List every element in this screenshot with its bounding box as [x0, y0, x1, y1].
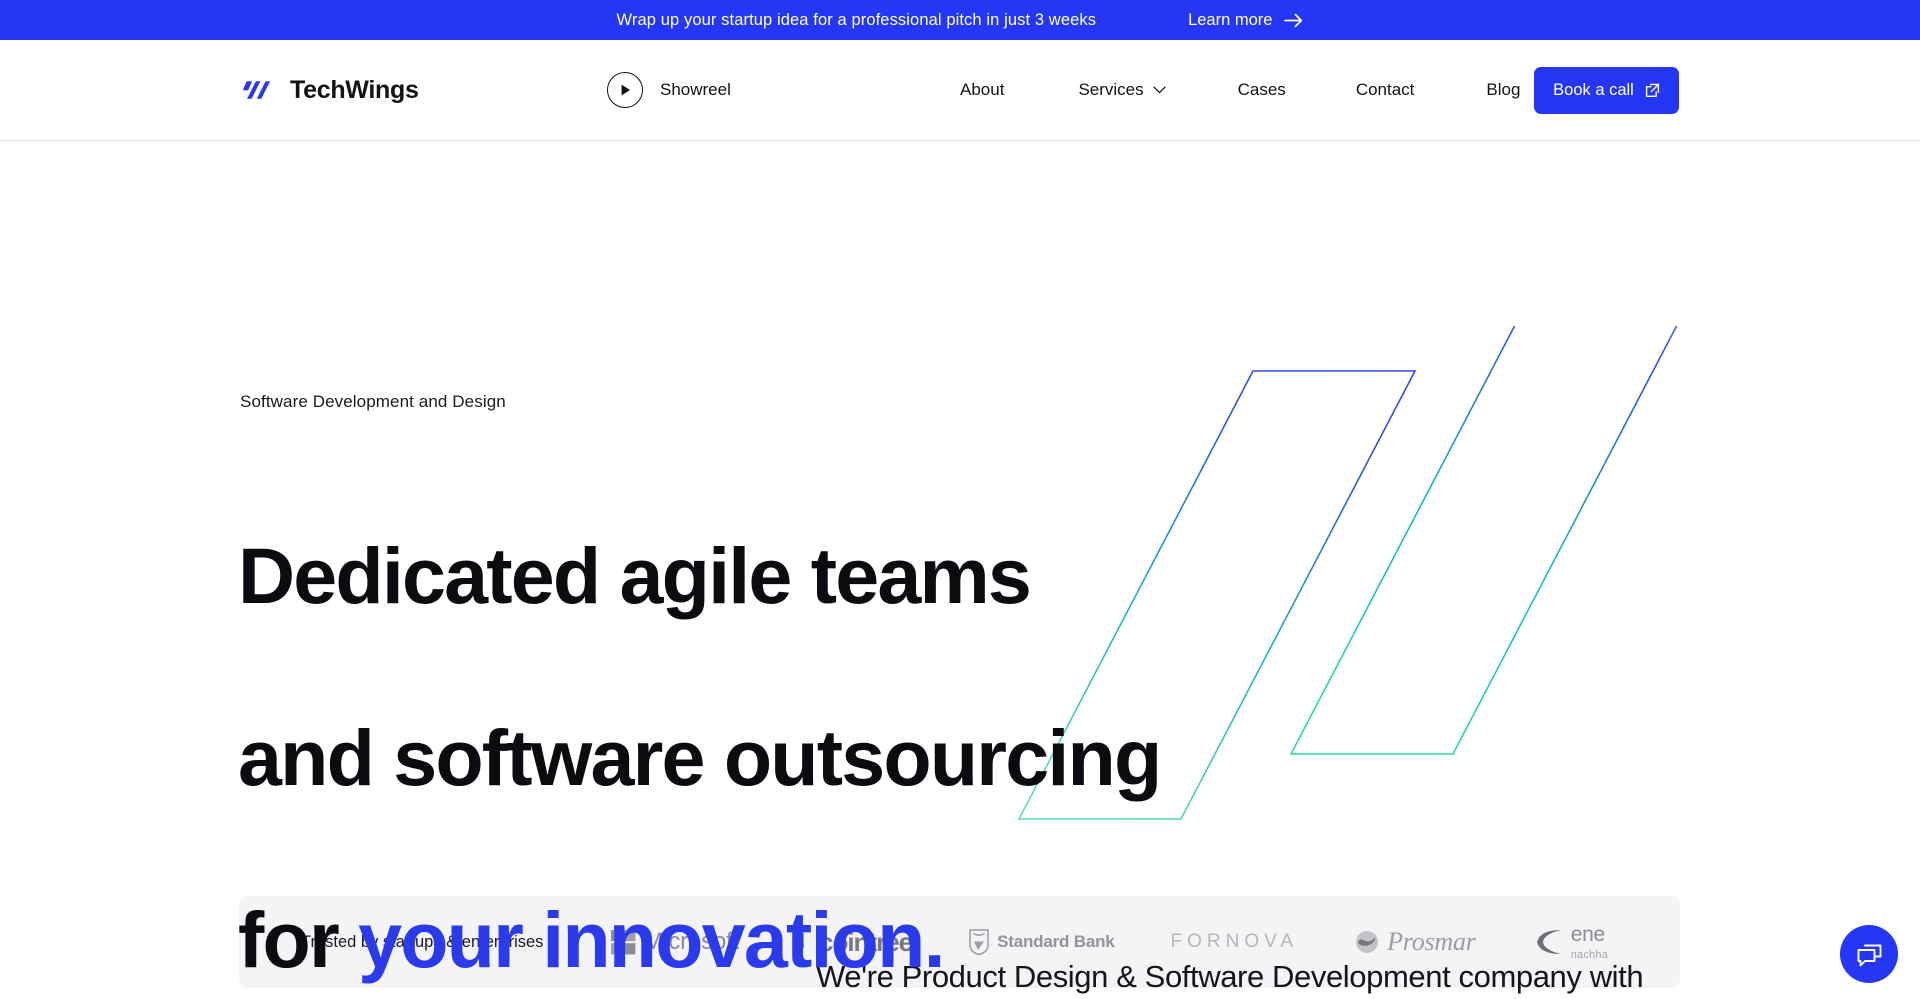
- partner-prosmar[interactable]: Prosmar: [1354, 927, 1476, 957]
- site-header: TechWings Showreel About Services Cases …: [0, 40, 1920, 141]
- hero-title-line-2: and software outsourcing: [238, 713, 1160, 802]
- nav-label-contact: Contact: [1356, 80, 1415, 100]
- partner-name-prosmar: Prosmar: [1387, 927, 1476, 957]
- techwings-mark-icon: [240, 78, 277, 102]
- nav-label-services: Services: [1078, 80, 1143, 100]
- play-icon: [607, 72, 643, 108]
- hero-title-line-1: Dedicated agile teams: [238, 531, 1030, 620]
- nav-item-services[interactable]: Services: [1078, 80, 1165, 100]
- prosmar-icon: [1354, 929, 1380, 955]
- nav-item-contact[interactable]: Contact: [1356, 80, 1415, 100]
- book-a-call-label: Book a call: [1553, 81, 1634, 100]
- book-a-call-button[interactable]: Book a call: [1534, 67, 1679, 114]
- hero-eyebrow: Software Development and Design: [240, 392, 506, 412]
- chat-widget-button[interactable]: [1840, 925, 1898, 983]
- announcement-text: Wrap up your startup idea for a professi…: [617, 11, 1097, 30]
- hero-title-accent: your innovation.: [358, 895, 944, 984]
- nav-label-about: About: [960, 80, 1004, 100]
- learn-more-link[interactable]: Learn more: [1188, 11, 1303, 30]
- nav-item-blog[interactable]: Blog: [1486, 80, 1520, 100]
- brand-logo[interactable]: TechWings: [240, 76, 419, 105]
- announcement-banner: Wrap up your startup idea for a professi…: [0, 0, 1920, 40]
- main-navigation: About Services Cases Contact Blog: [960, 80, 1520, 100]
- showreel-button[interactable]: Showreel: [607, 72, 731, 108]
- partner-fornova[interactable]: FORNOVA: [1171, 931, 1299, 953]
- partner-name-ene-top: ene: [1571, 924, 1608, 945]
- ene-icon: [1532, 926, 1564, 958]
- brand-name: TechWings: [290, 76, 419, 105]
- nav-label-blog: Blog: [1486, 80, 1520, 100]
- hero-section: Software Development and Design Dedicate…: [0, 141, 1920, 781]
- learn-more-label: Learn more: [1188, 11, 1272, 30]
- chat-bubble-icon: [1855, 940, 1884, 969]
- nav-item-about[interactable]: About: [960, 80, 1004, 100]
- partner-name-fornova: FORNOVA: [1171, 931, 1299, 953]
- nav-label-cases: Cases: [1238, 80, 1286, 100]
- hero-title-line-3-plain: for: [238, 895, 358, 984]
- hero-title: Dedicated agile teams and software outso…: [238, 439, 1160, 985]
- chevron-down-icon: [1153, 86, 1166, 94]
- arrow-right-icon: [1284, 13, 1303, 28]
- nav-item-cases[interactable]: Cases: [1238, 80, 1286, 100]
- showreel-label: Showreel: [660, 80, 731, 100]
- external-link-icon: [1645, 83, 1660, 98]
